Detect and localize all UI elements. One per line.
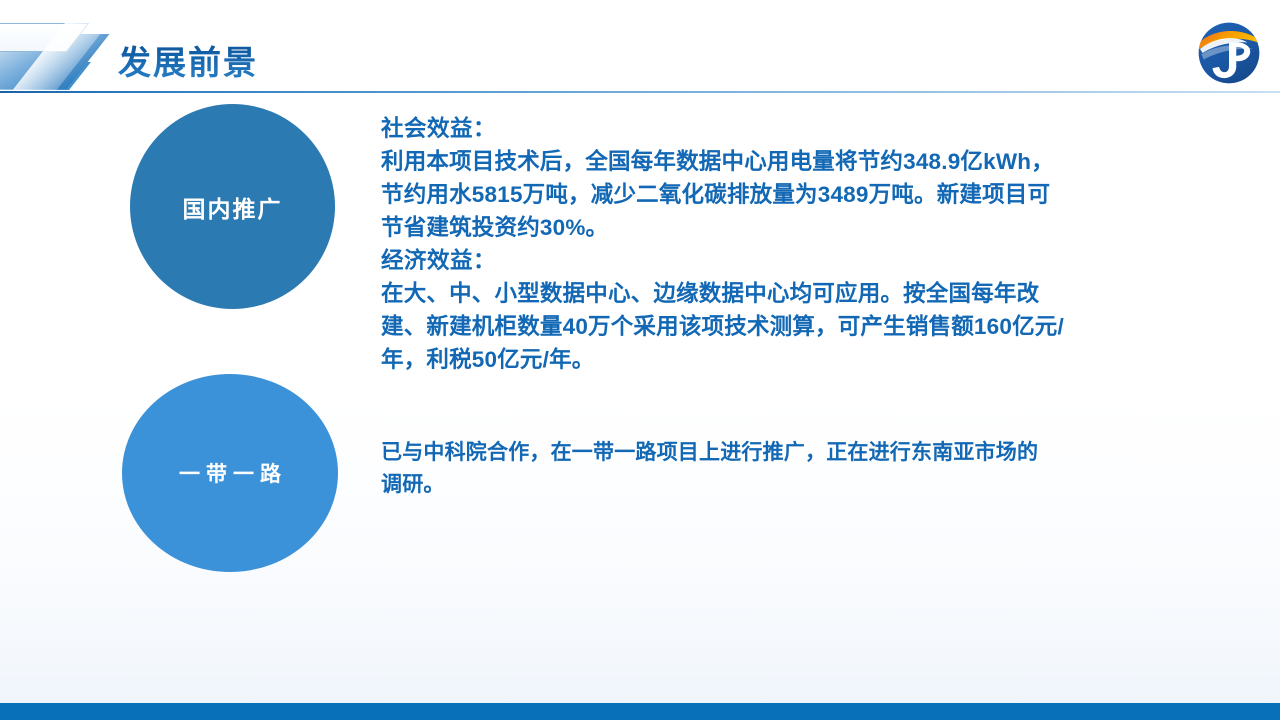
slide-canvas: 发展前景 xyxy=(0,0,1280,720)
circle-domestic-promotion: 国内推广 xyxy=(130,104,335,309)
company-logo xyxy=(1196,20,1262,86)
circle-belt-and-road: 一带一路 xyxy=(122,374,338,572)
slide-header: 发展前景 xyxy=(0,0,1280,93)
belt-and-road-body: 已与中科院合作，在一带一路项目上进行推广，正在进行东南亚市场的调研。 xyxy=(381,437,1051,501)
page-title: 发展前景 xyxy=(118,36,258,84)
social-benefit-heading: 社会效益： xyxy=(381,112,1071,145)
footer-bar xyxy=(0,703,1280,720)
header-divider xyxy=(0,91,1280,93)
circle-domestic-promotion-label: 国内推广 xyxy=(183,190,283,224)
section-belt-and-road-text: 已与中科院合作，在一带一路项目上进行推广，正在进行东南亚市场的调研。 xyxy=(381,437,1051,501)
circle-belt-and-road-label: 一带一路 xyxy=(173,458,287,488)
social-benefit-body: 利用本项目技术后，全国每年数据中心用电量将节约348.9亿kWh，节约用水581… xyxy=(381,145,1071,244)
economic-benefit-body: 在大、中、小型数据中心、边缘数据中心均可应用。按全国每年改建、新建机柜数量40万… xyxy=(381,277,1071,376)
section-domestic-promotion-text: 社会效益： 利用本项目技术后，全国每年数据中心用电量将节约348.9亿kWh，节… xyxy=(381,112,1071,376)
economic-benefit-heading: 经济效益： xyxy=(381,244,1071,277)
company-logo-icon xyxy=(1196,20,1262,86)
